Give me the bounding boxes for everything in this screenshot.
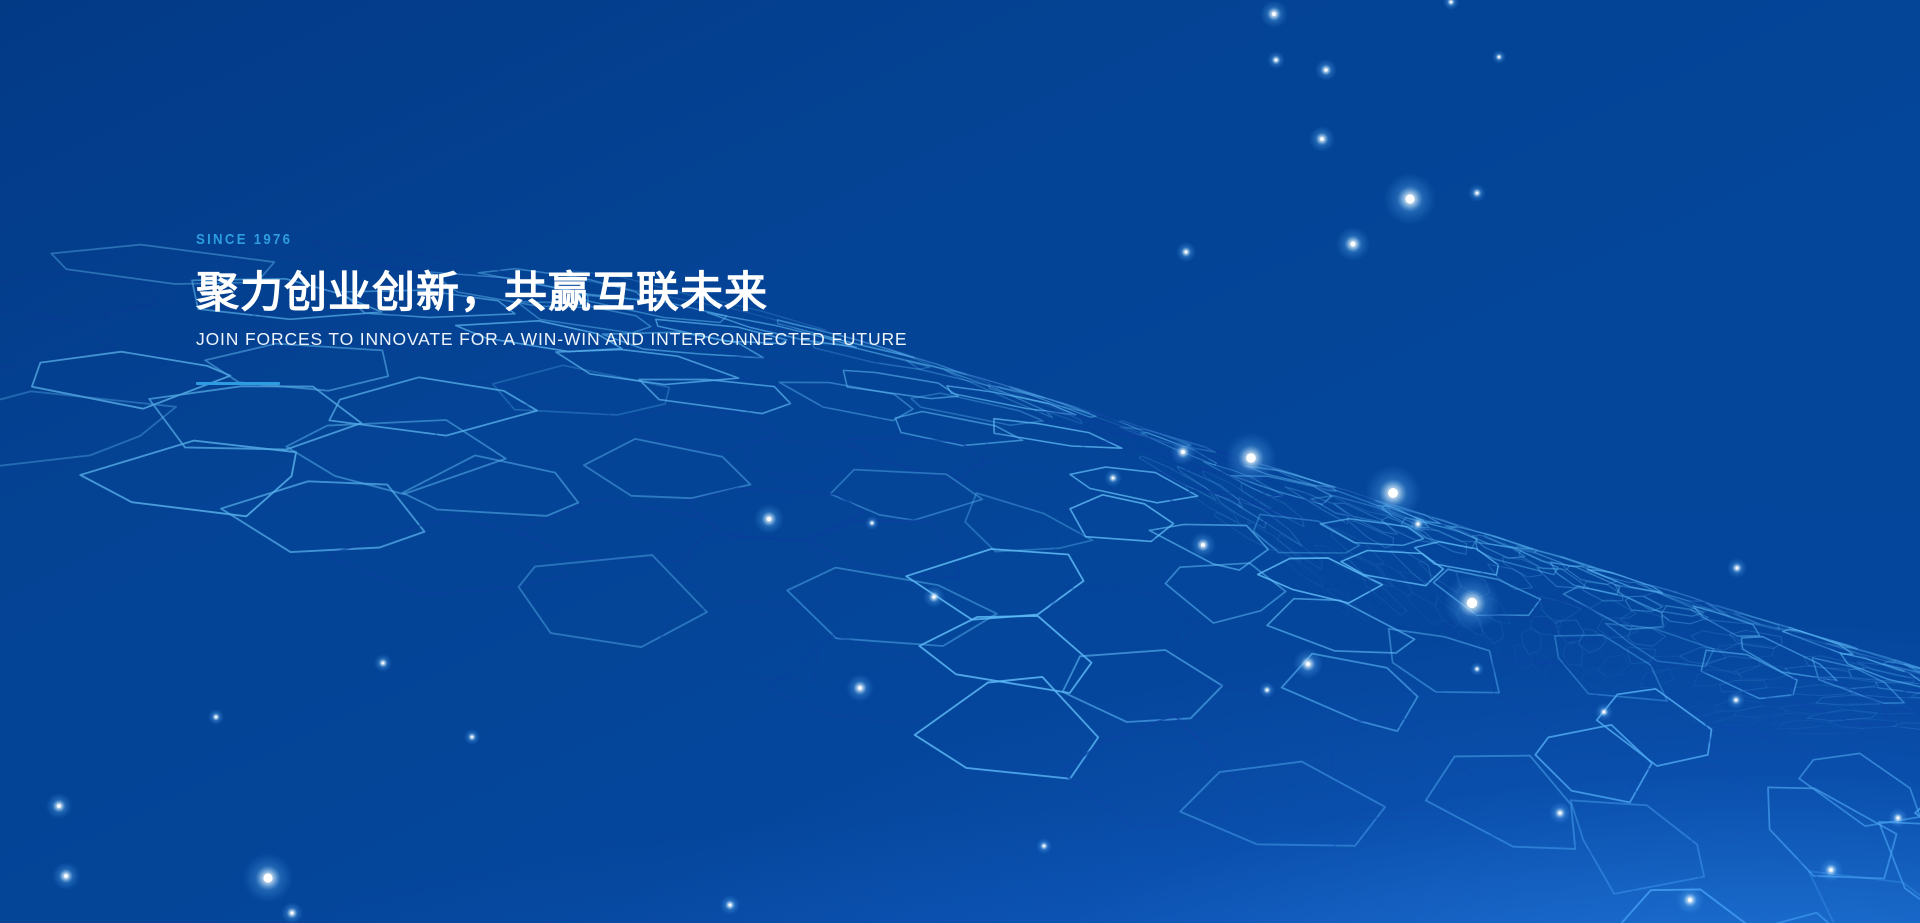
accent-rule xyxy=(196,382,280,385)
top-left-vignette xyxy=(0,0,1920,923)
eyebrow-since: SINCE 1976 xyxy=(196,232,1076,247)
hero-banner: SINCE 1976 聚力创业创新，共赢互联未来 JOIN FORCES TO … xyxy=(0,0,1920,923)
page-subtitle: JOIN FORCES TO INNOVATE FOR A WIN-WIN AN… xyxy=(196,329,1196,350)
hero-copy: SINCE 1976 聚力创业创新，共赢互联未来 JOIN FORCES TO … xyxy=(196,232,1196,385)
page-title: 聚力创业创新，共赢互联未来 xyxy=(196,269,1196,317)
